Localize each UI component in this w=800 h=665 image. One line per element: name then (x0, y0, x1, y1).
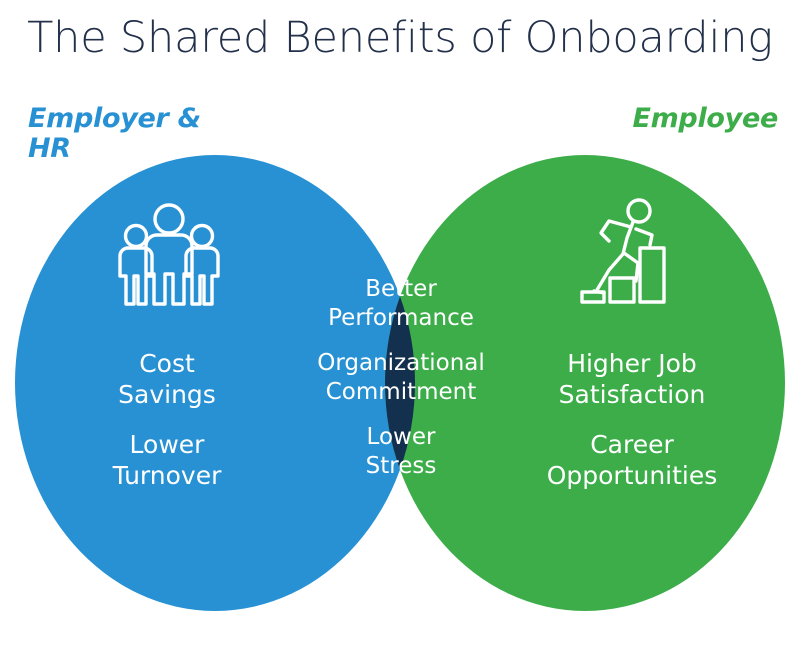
benefit-line: Satisfaction (512, 379, 752, 410)
benefit-line: Opportunities (512, 460, 752, 491)
benefit-line: Commitment (303, 378, 499, 407)
benefit-line: Lower (52, 429, 282, 460)
employee-benefits-list: Higher Job Satisfaction Career Opportuni… (512, 348, 752, 491)
legend-label-employer-line1: Employer (28, 103, 169, 134)
benefit-line: Career (512, 429, 752, 460)
employer-benefits-list: Cost Savings Lower Turnover (52, 348, 282, 491)
benefit-item: Cost Savings (52, 348, 282, 410)
benefit-line: Cost (52, 348, 282, 379)
legend-label-employee: Employee (518, 104, 778, 134)
benefit-line: Stress (303, 452, 499, 481)
benefit-line: Organizational (303, 349, 499, 378)
benefit-item: Better Performance (303, 275, 499, 333)
benefit-line: Better (303, 275, 499, 304)
benefit-item: Higher Job Satisfaction (512, 348, 752, 410)
venn-infographic: The Shared Benefits of Onboarding Employ… (0, 0, 800, 665)
benefit-line: Savings (52, 379, 282, 410)
people-group-icon (114, 200, 224, 308)
benefit-line: Higher Job (512, 348, 752, 379)
benefit-line: Performance (303, 304, 499, 333)
benefit-item: Lower Stress (303, 423, 499, 481)
benefit-item: Career Opportunities (512, 429, 752, 491)
benefit-line: Turnover (52, 460, 282, 491)
benefit-item: Lower Turnover (52, 429, 282, 491)
career-growth-stairs-icon (576, 196, 688, 308)
legend-label-employer: Employer & HR (28, 104, 248, 164)
shared-benefits-list: Better Performance Organizational Commit… (303, 275, 499, 497)
benefit-line: Lower (303, 423, 499, 452)
benefit-item: Organizational Commitment (303, 349, 499, 407)
